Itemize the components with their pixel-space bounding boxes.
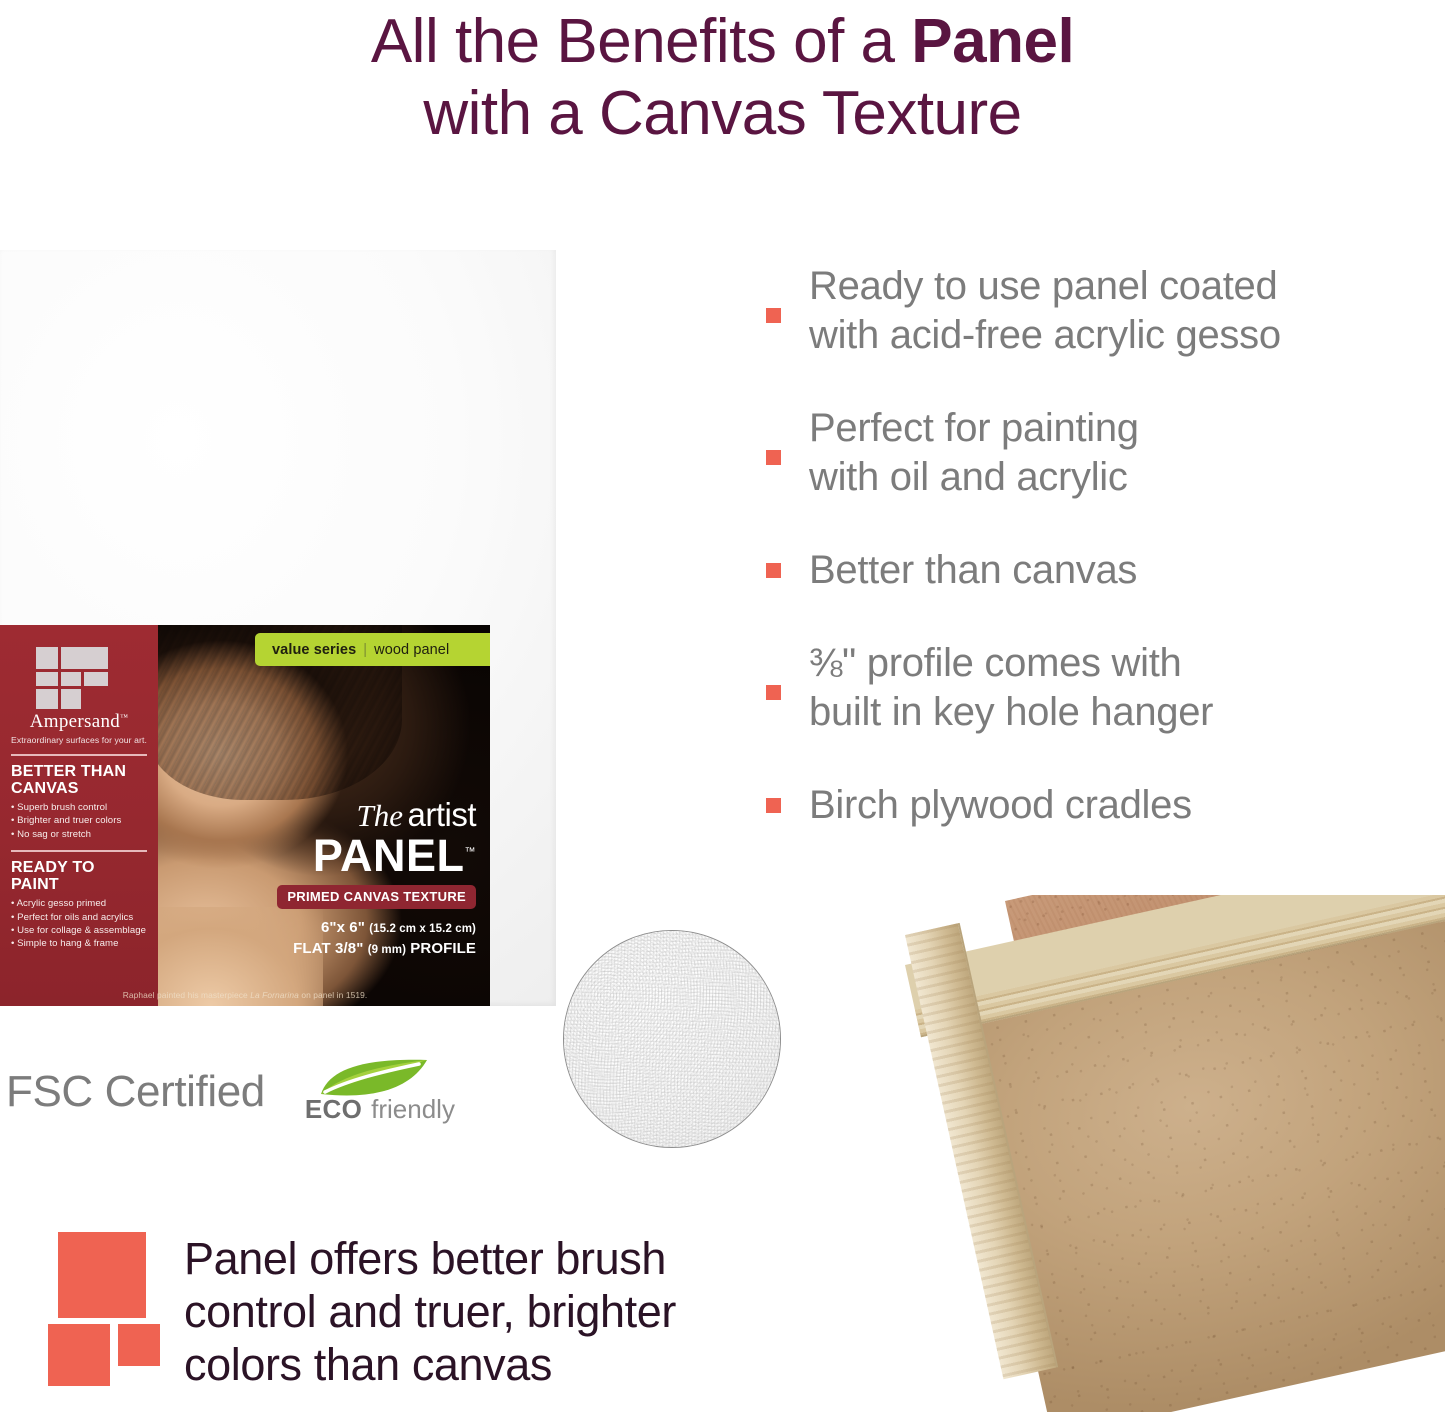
eco-leaf-icon (315, 1058, 435, 1096)
benefit-text: Perfect for painting with oil and acryli… (809, 404, 1139, 502)
benefit-text: Better than canvas (809, 546, 1137, 595)
page-title-line-1: All the Benefits of a Panel (0, 6, 1445, 78)
label-divider-1 (11, 754, 147, 756)
wordmark-artist: artist (407, 796, 476, 833)
bullet-square-icon (766, 685, 781, 700)
caption-text: Panel offers better brush control and tr… (184, 1232, 676, 1391)
benefit-item: Perfect for painting with oil and acryli… (766, 404, 1426, 502)
benefit-item: ⅜" profile comes with built in key hole … (766, 639, 1426, 737)
logo-block-1 (36, 647, 58, 669)
bottom-caption: Panel offers better brush control and tr… (48, 1232, 676, 1391)
ampersand-logo-icon (36, 647, 122, 707)
product-label: Ampersand™ Extraordinary surfaces for yo… (0, 625, 490, 1006)
logo-block-2 (61, 647, 108, 669)
dimension-line-1: 6"x 6" (15.2 cm x 15.2 cm) (206, 918, 476, 939)
bullet-square-icon (766, 308, 781, 323)
label-section1-item: • Brighter and truer colors (11, 814, 147, 827)
eco-light-label: friendly (371, 1094, 455, 1125)
benefit-item: Birch plywood cradles (766, 781, 1426, 830)
ampersand-square-mark-icon (48, 1232, 160, 1372)
benefit-item: Ready to use panel coated with acid-free… (766, 262, 1426, 360)
bullet-square-icon (766, 563, 781, 578)
label-section2-item: • Use for collage & assemblage (11, 924, 147, 937)
texture-grain-layer (564, 931, 780, 1147)
mark-square-small (118, 1324, 160, 1366)
label-section1-heading: BETTER THAN CANVAS (11, 763, 147, 797)
label-divider-2 (11, 850, 147, 852)
logo-block-6 (36, 689, 58, 709)
label-section1-item: • No sag or stretch (11, 828, 147, 841)
logo-block-7 (61, 689, 81, 709)
page-title-line-1-prefix: All the Benefits of a (371, 7, 911, 76)
dimension-line-2: FLAT 3/8" (9 mm) PROFILE (206, 939, 476, 960)
page-title: All the Benefits of a Panel with a Canva… (0, 6, 1445, 150)
logo-block-3 (36, 672, 58, 686)
wordmark-panel: PANEL™ (206, 830, 476, 878)
brand-tm: ™ (120, 713, 128, 722)
wordmark-the: The (357, 798, 404, 833)
primed-canvas-texture-badge: PRIMED CANVAS TEXTURE (277, 885, 476, 909)
label-section2-item: • Acrylic gesso primed (11, 897, 147, 910)
mark-square-medium (48, 1324, 110, 1386)
product-wordmark: The artist PANEL™ PRIMED CANVAS TEXTURE … (206, 799, 476, 960)
benefit-item: Better than canvas (766, 546, 1426, 595)
eco-bold-label: ECO (305, 1094, 362, 1125)
benefit-text: Birch plywood cradles (809, 781, 1192, 830)
canvas-texture-swatch (563, 930, 781, 1148)
eco-friendly-badge: ECO friendly (305, 1058, 455, 1125)
leaf-icon-svg (315, 1058, 435, 1098)
page-title-emphasis: Panel (911, 7, 1074, 76)
bullet-square-icon (766, 798, 781, 813)
benefit-text: ⅜" profile comes with built in key hole … (809, 639, 1213, 737)
wordmark-tm: ™ (465, 846, 477, 858)
benefits-list: Ready to use panel coated with acid-free… (766, 262, 1426, 874)
value-series-strip: value series | wood panel (255, 633, 490, 666)
logo-block-5 (84, 672, 108, 686)
bullet-square-icon (766, 450, 781, 465)
cradled-panel-back-photo (905, 895, 1445, 1412)
label-info-column: Ampersand™ Extraordinary surfaces for yo… (0, 625, 158, 1006)
page-title-line-2: with a Canvas Texture (0, 78, 1445, 150)
label-footnote: Raphael painted his masterpiece La Forna… (0, 990, 490, 1000)
value-series-separator: | (363, 642, 367, 658)
mark-square-large (58, 1232, 146, 1318)
label-section2-item: • Simple to hang & frame (11, 937, 147, 950)
label-section2-item: • Perfect for oils and acrylics (11, 911, 147, 924)
product-dimensions: 6"x 6" (15.2 cm x 15.2 cm) FLAT 3/8" (9 … (206, 918, 476, 960)
brand-tagline: Extraordinary surfaces for your art. (11, 735, 147, 745)
value-series-label: value series (272, 642, 356, 658)
logo-block-4 (61, 672, 81, 686)
label-section1-item: • Superb brush control (11, 801, 147, 814)
label-section2-heading: READY TO PAINT (11, 859, 147, 893)
certification-row: FSC Certified ECO friendly (6, 1058, 455, 1125)
benefit-text: Ready to use panel coated with acid-free… (809, 262, 1281, 360)
brand-name: Ampersand™ (11, 711, 147, 733)
fsc-certified-label: FSC Certified (6, 1067, 265, 1117)
wood-panel-label: wood panel (374, 642, 449, 658)
eco-text-row: ECO friendly (305, 1094, 455, 1125)
